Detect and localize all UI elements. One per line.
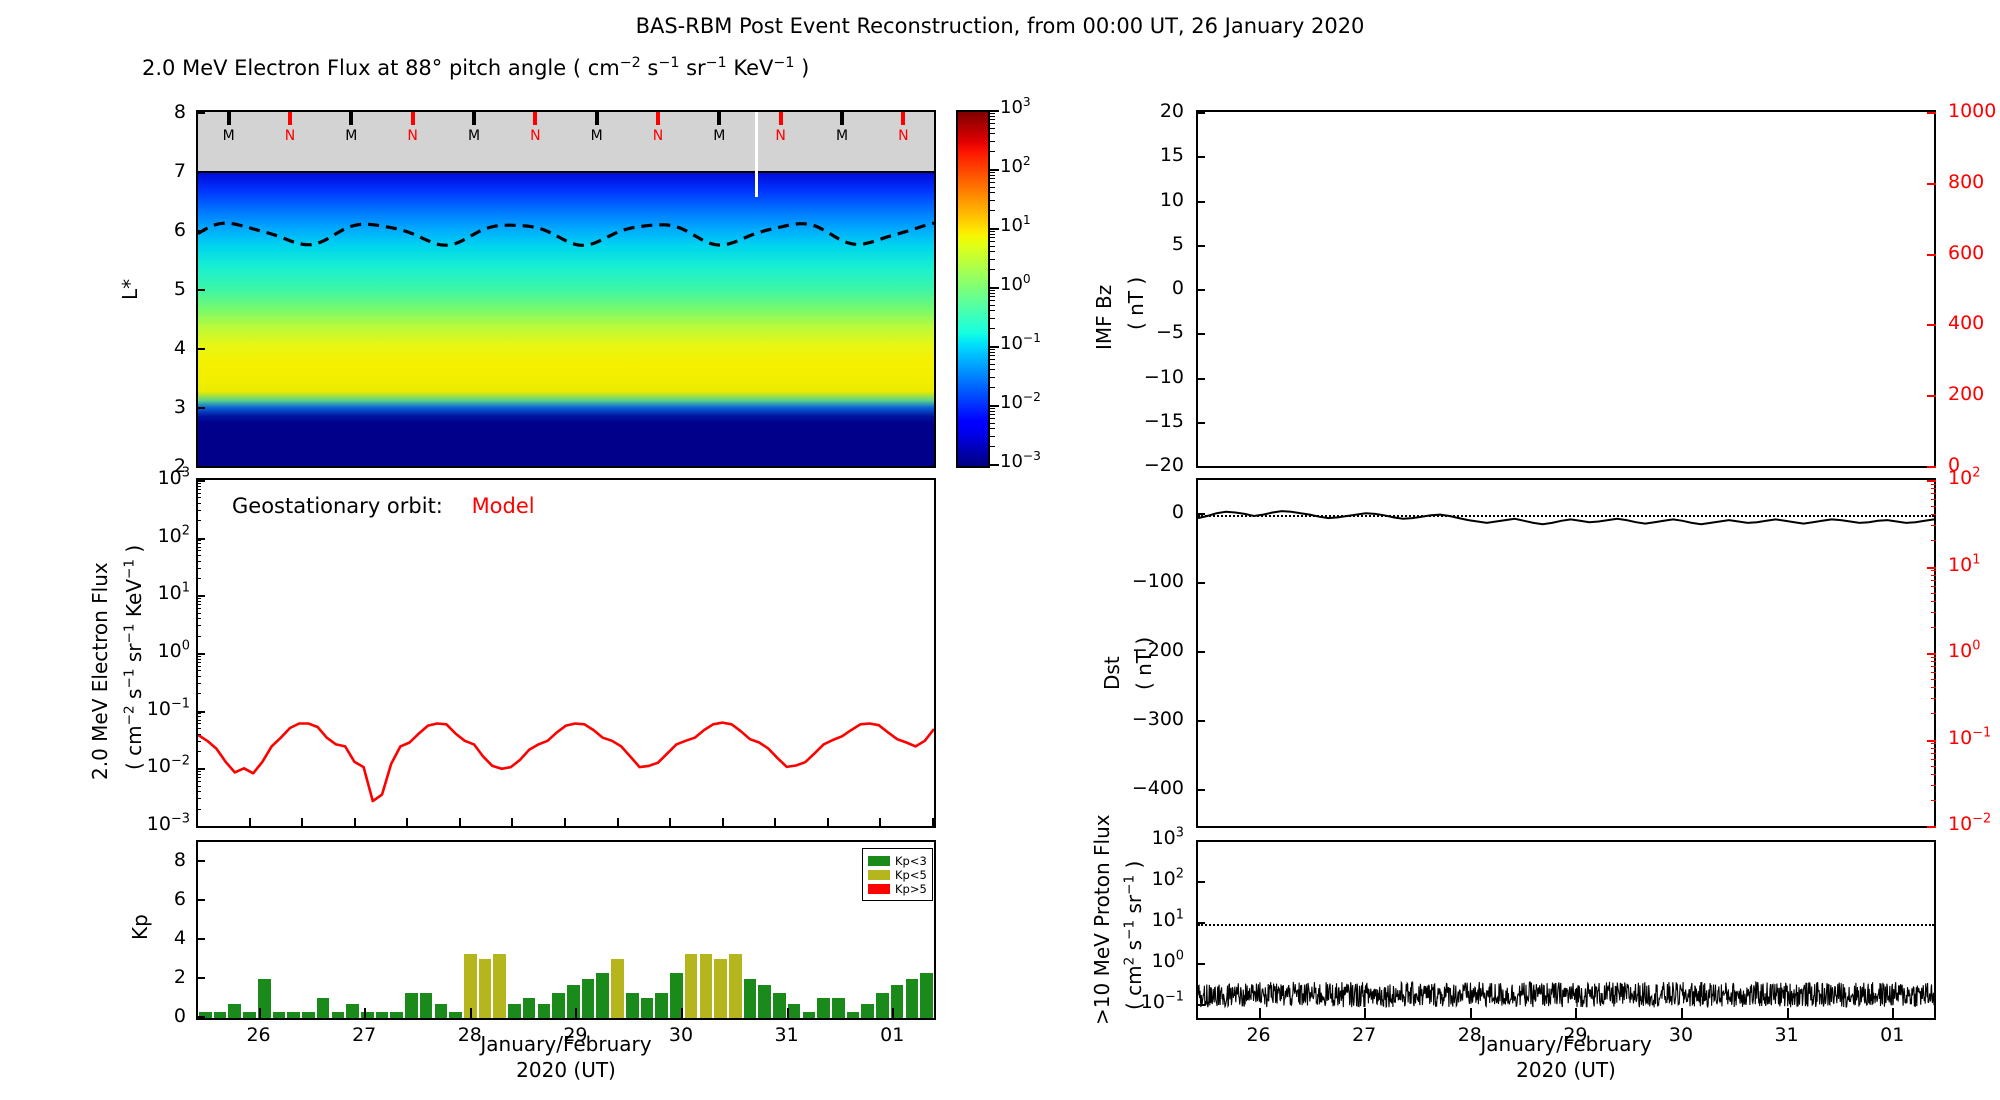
- colorbar-major-tick: [990, 464, 999, 466]
- proton-ytick-mark: [1196, 1004, 1205, 1006]
- geo-flux-minor-tick: [196, 791, 201, 792]
- colorbar-major-tick: [990, 228, 999, 230]
- kp-bar: [361, 1012, 374, 1018]
- geo-flux-ylabel-line1: 2.0 MeV Electron Flux: [88, 562, 112, 780]
- sw-velocity-ytick-mark: [1927, 466, 1936, 468]
- proton-xtick-mark: [1787, 1008, 1789, 1018]
- imf-bz-ytick: 5: [1118, 233, 1184, 255]
- colorbar-major-tick: [990, 287, 999, 289]
- geo-flux-xtick-mark: [827, 818, 829, 826]
- colorbar-tick-label: 10−1: [1000, 333, 1041, 354]
- proton-flux-noise-trace: [1198, 842, 1934, 1018]
- sw-velocity-ytick-mark: [1927, 254, 1936, 256]
- geo-flux-xtick-mark: [774, 818, 776, 826]
- flux-map-ytick-mark: [196, 466, 205, 468]
- geo-flux-minor-tick: [196, 774, 201, 775]
- unit-sr: sr: [679, 56, 705, 80]
- sw-pressure-ytick-mark: [1927, 480, 1936, 482]
- colorbar-major-tick: [990, 346, 999, 348]
- exponent: 2: [182, 523, 190, 538]
- geo-flux-minor-tick: [196, 618, 201, 619]
- dst-line: [1198, 480, 1934, 826]
- imf-bz-ytick: −5: [1118, 321, 1184, 343]
- geo-flux-minor-tick: [196, 604, 201, 605]
- ylab-e2: −1: [121, 668, 137, 688]
- kp-xtick-mark: [364, 1008, 366, 1018]
- ylab-p5: ): [122, 545, 146, 559]
- geo-flux-minor-tick: [196, 483, 201, 484]
- colorbar-minor-tick: [990, 414, 995, 415]
- geo-flux-minor-tick: [196, 676, 201, 677]
- flux-map-title-mid: pitch angle ( cm: [442, 56, 619, 80]
- kp-legend-row[interactable]: Kp<5: [868, 868, 927, 881]
- geo-flux-xtick-mark: [879, 818, 881, 826]
- geo-flux-minor-tick: [196, 540, 201, 541]
- colorbar-minor-tick: [990, 241, 995, 242]
- colorbar-minor-tick: [990, 408, 995, 409]
- sw-velocity-ytick: 1000: [1948, 100, 1996, 122]
- exp-2: −1: [658, 55, 679, 71]
- proton-ytick: 10−1: [1126, 991, 1184, 1013]
- kp-legend-row[interactable]: Kp>5: [868, 882, 927, 895]
- proton-flux-plot[interactable]: [1196, 840, 1936, 1020]
- geo-flux-minor-tick: [196, 786, 201, 787]
- colorbar-minor-tick: [990, 116, 995, 117]
- imf-bz-ytick: 0: [1118, 277, 1184, 299]
- kp-bar: [685, 954, 698, 1019]
- kp-xlabel-line1: January/February: [196, 1032, 936, 1056]
- colorbar-minor-tick: [990, 411, 995, 412]
- exponent: 3: [1176, 826, 1184, 841]
- geo-flux-xtick-mark: [564, 818, 566, 826]
- geo-flux-xtick-mark: [249, 818, 251, 826]
- geo-flux-minor-tick: [196, 670, 201, 671]
- geo-flux-minor-tick: [196, 666, 201, 667]
- sw-pressure-ytick: 10−2: [1948, 813, 1991, 835]
- kp-bar: [714, 959, 727, 1018]
- colorbar-minor-tick: [990, 246, 995, 247]
- colorbar-minor-tick: [990, 210, 995, 211]
- geo-flux-xtick-mark: [196, 818, 198, 826]
- geostationary-lstar-dashed-line: [198, 112, 934, 466]
- geo-flux-minor-tick: [196, 489, 201, 490]
- kp-bar: [861, 1004, 874, 1018]
- kp-ytick-mark: [196, 938, 205, 940]
- kp-bar: [758, 985, 771, 1018]
- proton-xtick-mark: [1259, 1008, 1261, 1018]
- exponent: −2: [1023, 390, 1041, 404]
- kp-ylabel: Kp: [128, 914, 152, 940]
- kp-xtick-mark: [575, 1008, 577, 1018]
- colorbar-minor-tick: [990, 310, 995, 311]
- exponent: 0: [1176, 948, 1184, 963]
- sw-pressure-minor-tick: [1931, 661, 1936, 662]
- proton-ytick: 102: [1126, 868, 1184, 890]
- dst-ytick: −400: [1108, 777, 1184, 799]
- exponent: −1: [1165, 989, 1184, 1004]
- exponent: 1: [1023, 213, 1031, 227]
- flux-map-ytick-mark: [196, 230, 205, 232]
- kp-bar: [332, 1012, 345, 1018]
- geo-flux-minor-tick: [196, 555, 201, 556]
- sw-velocity-ytick: 800: [1948, 171, 1984, 193]
- imf-bz-ytick: −10: [1118, 366, 1184, 388]
- sw-pressure-minor-tick: [1931, 766, 1936, 767]
- dst-plot[interactable]: [1196, 478, 1936, 828]
- colorbar[interactable]: [956, 110, 990, 468]
- geo-flux-minor-tick: [196, 723, 201, 724]
- flux-map-ytick-mark: [196, 112, 205, 114]
- kp-legend-swatch: [868, 856, 890, 866]
- colorbar-minor-tick: [990, 355, 995, 356]
- kp-legend-label: Kp<5: [895, 868, 927, 882]
- dst-ytick: −100: [1108, 570, 1184, 592]
- exponent: −1: [1972, 725, 1991, 740]
- exponent: 3: [182, 466, 190, 481]
- geo-flux-minor-tick: [196, 613, 201, 614]
- imf-bz-ytick-mark: [1196, 245, 1205, 247]
- geo-flux-line: [198, 480, 934, 826]
- sw-pressure-minor-tick: [1931, 666, 1936, 667]
- geo-flux-minor-tick: [196, 659, 201, 660]
- sw-pressure-minor-tick: [1931, 672, 1936, 673]
- geo-flux-ytick: 10−3: [140, 813, 190, 835]
- geo-flux-xtick-mark: [301, 818, 303, 826]
- geo-flux-minor-tick: [196, 598, 201, 599]
- geo-flux-minor-tick: [196, 568, 201, 569]
- flux-map-ytick-mark: [196, 348, 205, 350]
- colorbar-minor-tick: [990, 359, 995, 360]
- kp-bar: [729, 954, 742, 1019]
- sw-pressure-minor-tick: [1931, 713, 1936, 714]
- proton-ylabel-line1: >10 MeV Proton Flux: [1090, 814, 1114, 1025]
- kp-ytick-mark: [196, 1016, 205, 1018]
- geo-flux-minor-tick: [196, 497, 201, 498]
- kp-bar: [508, 1004, 521, 1018]
- kp-bar: [582, 979, 595, 1018]
- sw-pressure-minor-tick: [1931, 575, 1936, 576]
- geo-flux-minor-tick: [196, 608, 201, 609]
- imf-bz-ytick: 20: [1118, 100, 1184, 122]
- kp-xlabel-line2: 2020 (UT): [196, 1058, 936, 1082]
- imf-bz-ytick-mark: [1196, 112, 1205, 114]
- kp-bar: [346, 1004, 359, 1018]
- geo-flux-minor-tick: [196, 720, 201, 721]
- geo-flux-xtick-mark: [617, 818, 619, 826]
- sw-pressure-ytick-mark: [1927, 567, 1936, 569]
- geo-flux-minor-tick: [196, 520, 201, 521]
- geo-flux-minor-tick: [196, 734, 201, 735]
- flux-map-title: 2.0 MeV Electron Flux at 88° pitch angle…: [142, 56, 809, 80]
- kp-bar: [493, 954, 506, 1019]
- sw-pressure-minor-tick: [1931, 753, 1936, 754]
- sw-pressure-minor-tick: [1931, 800, 1936, 801]
- geo-flux-minor-tick: [196, 493, 201, 494]
- proton-ytick-mark: [1196, 840, 1205, 842]
- proton-ytick-mark: [1196, 922, 1205, 924]
- geo-flux-minor-tick: [196, 561, 201, 562]
- ylab-e1: −2: [121, 705, 137, 725]
- kp-bar: [906, 979, 919, 1018]
- colorbar-minor-tick: [990, 318, 995, 319]
- geo-flux-xtick-mark: [669, 818, 671, 826]
- sw-pressure-minor-tick: [1931, 785, 1936, 786]
- sw-pressure-minor-tick: [1931, 514, 1936, 515]
- proton-xtick-mark: [1470, 1008, 1472, 1018]
- colorbar-minor-tick: [990, 428, 995, 429]
- sw-pressure-minor-tick: [1931, 593, 1936, 594]
- colorbar-minor-tick: [990, 172, 995, 173]
- unit-kev: KeV: [727, 56, 774, 80]
- colorbar-minor-tick: [990, 128, 995, 129]
- sw-velocity-ytick-mark: [1927, 395, 1936, 397]
- kp-bar: [552, 993, 565, 1018]
- degree-symbol: °: [432, 56, 443, 80]
- kp-ytick: 6: [160, 888, 186, 910]
- imf-bz-ytick-mark: [1196, 333, 1205, 335]
- dst-ytick-mark: [1196, 720, 1205, 722]
- colorbar-minor-tick: [990, 231, 995, 232]
- geo-flux-minor-tick: [196, 798, 201, 799]
- geo-flux-ytick: 10−1: [140, 698, 190, 720]
- geo-flux-minor-tick: [196, 713, 201, 714]
- geo-flux-ytick: 10−2: [140, 755, 190, 777]
- colorbar-minor-tick: [990, 296, 995, 297]
- geo-flux-xtick-mark: [354, 818, 356, 826]
- kp-legend-swatch: [868, 870, 890, 880]
- geo-flux-ytick: 100: [140, 640, 190, 662]
- kp-bar: [847, 1012, 860, 1018]
- colorbar-tick-label: 10−2: [1000, 392, 1041, 413]
- geo-flux-minor-tick: [196, 486, 201, 487]
- dst-ytick-mark: [1196, 513, 1205, 515]
- ylab-e3: −1: [121, 623, 137, 643]
- imf-bz-ylabel-line1: IMF Bz: [1092, 285, 1116, 350]
- unit-s: s: [641, 56, 659, 80]
- exponent: 3: [1023, 95, 1031, 109]
- sw-velocity-ytick-mark: [1927, 324, 1936, 326]
- kp-legend-label: Kp>5: [895, 882, 927, 896]
- kp-bar: [803, 1012, 816, 1018]
- kp-bar: [832, 998, 845, 1018]
- flux-map-ytick-mark: [196, 407, 205, 409]
- geo-flux-minor-tick: [196, 662, 201, 663]
- colorbar-minor-tick: [990, 192, 995, 193]
- kp-legend[interactable]: Kp<3Kp<5Kp>5: [862, 848, 933, 901]
- geo-flux-minor-tick: [196, 751, 201, 752]
- imf-bz-ytick-mark: [1196, 466, 1205, 468]
- exponent: 0: [1972, 639, 1980, 654]
- sw-pressure-minor-tick: [1931, 484, 1936, 485]
- sw-pressure-minor-tick: [1931, 586, 1936, 587]
- imf-bz-ytick: −15: [1118, 410, 1184, 432]
- colorbar-major-tick: [990, 405, 999, 407]
- sw-pressure-minor-tick: [1931, 759, 1936, 760]
- geo-flux-minor-tick: [196, 625, 201, 626]
- exponent: 2: [1972, 466, 1980, 481]
- sw-velocity-ytick-mark: [1927, 183, 1936, 185]
- colorbar-minor-tick: [990, 446, 995, 447]
- geo-flux-minor-tick: [196, 547, 201, 548]
- imf-bz-ytick-mark: [1196, 289, 1205, 291]
- exponent: −2: [1972, 812, 1991, 827]
- kp-bar: [567, 985, 580, 1018]
- dst-ytick: −300: [1108, 708, 1184, 730]
- geo-flux-minor-tick: [196, 716, 201, 717]
- kp-xtick-mark: [681, 1008, 683, 1018]
- geo-flux-minor-tick: [196, 601, 201, 602]
- colorbar-tick-label: 101: [1000, 215, 1031, 236]
- geo-flux-minor-tick: [196, 683, 201, 684]
- proton-xtick-mark: [1892, 1008, 1894, 1018]
- kp-xtick-mark: [892, 1008, 894, 1018]
- proton-xlabel-line2: 2020 (UT): [1196, 1058, 1936, 1082]
- sw-pressure-ytick: 10−1: [1948, 727, 1991, 749]
- sw-pressure-minor-tick: [1931, 506, 1936, 507]
- kp-bar: [243, 1012, 256, 1018]
- kp-ytick: 4: [160, 927, 186, 949]
- dst-ytick: −200: [1108, 639, 1184, 661]
- kp-ytick: 2: [160, 966, 186, 988]
- colorbar-minor-tick: [990, 377, 995, 378]
- sw-pressure-minor-tick: [1931, 657, 1936, 658]
- sw-pressure-minor-tick: [1931, 627, 1936, 628]
- geo-flux-minor-tick: [196, 636, 201, 637]
- kp-bar: [390, 1012, 403, 1018]
- kp-bar: [655, 993, 668, 1018]
- imf-bz-ytick-mark: [1196, 422, 1205, 424]
- kp-bar: [641, 998, 654, 1018]
- kp-bar: [214, 1012, 227, 1018]
- kp-bar: [920, 973, 933, 1018]
- sw-velocity-ytick-mark: [1927, 112, 1936, 114]
- sw-pressure-ytick-mark: [1927, 653, 1936, 655]
- exponent: 1: [1972, 552, 1980, 567]
- exp-4: −1: [773, 55, 794, 71]
- colorbar-minor-tick: [990, 349, 995, 350]
- kp-legend-row[interactable]: Kp<3: [868, 854, 927, 867]
- sw-pressure-ytick-mark: [1927, 826, 1936, 828]
- kp-bar: [817, 998, 830, 1018]
- flux-map-ytick: 3: [160, 396, 186, 418]
- geo-flux-plot[interactable]: [196, 478, 936, 828]
- colorbar-minor-tick: [990, 151, 995, 152]
- kp-bar: [876, 993, 889, 1018]
- geo-flux-minor-tick: [196, 693, 201, 694]
- imf-bz-plot[interactable]: [1196, 110, 1936, 468]
- kp-bar: [273, 1012, 286, 1018]
- geo-flux-minor-tick: [196, 503, 201, 504]
- flux-map-ylabel: L*: [118, 279, 142, 300]
- geo-flux-ytick: 102: [140, 525, 190, 547]
- sw-pressure-ytick: 101: [1948, 554, 1980, 576]
- kp-xtick-mark: [470, 1008, 472, 1018]
- colorbar-minor-tick: [990, 387, 995, 388]
- geo-flux-minor-tick: [196, 728, 201, 729]
- geo-flux-minor-tick: [196, 809, 201, 810]
- flux-map-ytick: 5: [160, 278, 186, 300]
- sw-pressure-minor-tick: [1931, 499, 1936, 500]
- sw-pressure-minor-tick: [1931, 774, 1936, 775]
- colorbar-minor-tick: [990, 175, 995, 176]
- colorbar-minor-tick: [990, 123, 995, 124]
- kp-xtick-mark: [259, 1008, 261, 1018]
- exponent: 2: [1023, 154, 1031, 168]
- sw-pressure-ytick-mark: [1927, 740, 1936, 742]
- sw-pressure-minor-tick: [1931, 679, 1936, 680]
- colorbar-minor-tick: [990, 328, 995, 329]
- colorbar-major-tick: [990, 110, 999, 112]
- colorbar-tick-label: 102: [1000, 156, 1031, 177]
- flux-map-ytick-mark: [196, 289, 205, 291]
- sw-pressure-minor-tick: [1931, 601, 1936, 602]
- geo-flux-minor-tick: [196, 550, 201, 551]
- kp-bar: [773, 993, 786, 1018]
- sw-pressure-minor-tick: [1931, 687, 1936, 688]
- sw-pressure-minor-tick: [1931, 743, 1936, 744]
- geo-flux-series-name: Model: [472, 494, 535, 518]
- geo-flux-ytick: 103: [140, 467, 190, 489]
- colorbar-minor-tick: [990, 237, 995, 238]
- flux-map-ytick: 8: [160, 101, 186, 123]
- colorbar-minor-tick: [990, 113, 995, 114]
- exponent: 0: [1023, 272, 1031, 286]
- flux-map-plot[interactable]: MNMNMNMNMNMN: [196, 110, 936, 468]
- colorbar-minor-tick: [990, 352, 995, 353]
- colorbar-tick-label: 10−3: [1000, 451, 1041, 472]
- geo-flux-xtick-mark: [722, 818, 724, 826]
- imf-bz-ytick: 15: [1118, 144, 1184, 166]
- proton-xtick-mark: [1575, 1008, 1577, 1018]
- sw-pressure-minor-tick: [1931, 570, 1936, 571]
- imf-bz-ytick: −20: [1118, 454, 1184, 476]
- kp-bar: [228, 1004, 241, 1018]
- dst-ylabel-line1: Dst: [1100, 656, 1124, 690]
- kp-legend-swatch: [868, 884, 890, 894]
- figure-title: BAS-RBM Post Event Reconstruction, from …: [0, 14, 2000, 38]
- kp-bar: [376, 1012, 389, 1018]
- exponent: 2: [1176, 867, 1184, 882]
- flux-map-title-main: 2.0 MeV Electron Flux at 88: [142, 56, 432, 80]
- exponent: −3: [1023, 449, 1041, 463]
- exponent: −1: [171, 696, 190, 711]
- kp-ytick-mark: [196, 860, 205, 862]
- geo-flux-minor-tick: [196, 510, 201, 511]
- exponent: 1: [182, 581, 190, 596]
- geo-flux-annotation-label: Geostationary orbit:: [232, 494, 443, 518]
- imf-bz-ytick-mark: [1196, 156, 1205, 158]
- flux-map-ytick-mark: [196, 171, 205, 173]
- sw-pressure-minor-tick: [1931, 540, 1936, 541]
- geo-flux-minor-tick: [196, 741, 201, 742]
- kp-bar: [744, 979, 757, 1018]
- kp-bar: [420, 993, 433, 1018]
- kp-bar: [317, 998, 330, 1018]
- colorbar-tick-label: 103: [1000, 97, 1031, 118]
- colorbar-minor-tick: [990, 141, 995, 142]
- proton-ytick-mark: [1196, 963, 1205, 965]
- exponent: −1: [1023, 331, 1041, 345]
- sw-pressure-minor-tick: [1931, 488, 1936, 489]
- ylab-e4: −1: [121, 559, 137, 579]
- kp-plot[interactable]: [196, 840, 936, 1020]
- colorbar-minor-tick: [990, 187, 995, 188]
- dst-ytick: 0: [1108, 501, 1184, 523]
- colorbar-minor-tick: [990, 269, 995, 270]
- colorbar-minor-tick: [990, 259, 995, 260]
- proton-ytick-mark: [1196, 881, 1205, 883]
- dst-ytick-mark: [1196, 651, 1205, 653]
